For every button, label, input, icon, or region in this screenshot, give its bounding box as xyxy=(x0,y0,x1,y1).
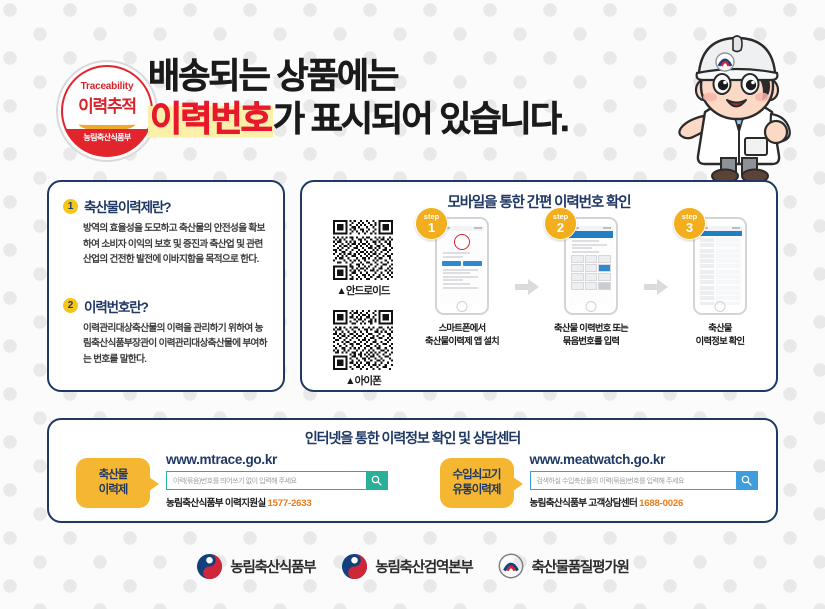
service-meatwatch: 수입쇠고기 유통이력제 www.meatwatch.go.kr 검색하실 수입축… xyxy=(413,452,777,509)
step-1-badge: step 1 xyxy=(415,207,448,240)
headline-line-2: 이력번호가 표시되어 있습니다. xyxy=(148,100,658,139)
internet-panel-title: 인터넷을 통한 이력정보 확인 및 상담센터 xyxy=(49,428,776,448)
step-2-screen xyxy=(569,226,613,305)
steps-row: step 1 스마트폰에서 축산물이력제 앱 설치 xyxy=(410,214,772,349)
service-mtrace: 축산물 이력제 www.mtrace.go.kr 이력(묶음)번호를 띄어쓰기 … xyxy=(49,452,413,509)
inspector-mascot-icon xyxy=(645,18,825,184)
footer-section: 농림축산식품부 농림축산검역본부 축산물품질평가원 xyxy=(0,536,825,596)
qr-code-column: ▲안드로이드 xyxy=(320,220,406,388)
service-mtrace-search-button[interactable] xyxy=(366,472,387,489)
step-3-badge: step 3 xyxy=(673,207,706,240)
service-mtrace-search-input[interactable]: 이력(묶음)번호를 띄어쓰기 없이 입력해 주세요 xyxy=(167,472,366,489)
iphone-qr-caption: ▲아이폰 xyxy=(320,373,406,388)
badge-arc: 농림축산식품부 xyxy=(63,129,151,155)
step-2-caption: 축산물 이력번호 또는 묶음번호를 입력 xyxy=(539,322,643,349)
header-section: Traceability 이력추적 농림축산식품부 배송되는 상품에는 이력번호… xyxy=(0,0,825,176)
step-1-caption-line-1: 스마트폰에서 xyxy=(439,323,486,333)
service-mtrace-tel-label: 농림축산식품부 이력지원실 xyxy=(166,498,265,509)
footer-logo-qia-label: 농림축산검역본부 xyxy=(375,556,472,577)
service-mtrace-bubble: 축산물 이력제 xyxy=(76,458,150,508)
step-2-badge: step 2 xyxy=(544,207,577,240)
step-2-badge-word: step xyxy=(553,213,568,221)
service-meatwatch-bubble: 수입쇠고기 유통이력제 xyxy=(440,458,514,508)
service-mtrace-tel-number: 1577-2633 xyxy=(267,498,311,509)
arrow-1-icon xyxy=(514,238,539,336)
mobile-panel: 모바일을 통한 간편 이력번호 확인 xyxy=(300,180,778,392)
info-item-1-body: 방역의 효율성을 도모하고 축산물의 안전성을 확보하여 소비자 이익의 보호 … xyxy=(83,221,267,268)
iphone-qr-code-icon[interactable] xyxy=(333,310,393,370)
qr-spacer xyxy=(320,298,406,310)
app-header-bar xyxy=(569,231,613,238)
step-1-badge-word: step xyxy=(424,213,439,221)
step-1: step 1 스마트폰에서 축산물이력제 앱 설치 xyxy=(410,214,514,349)
app-seal-icon xyxy=(454,234,470,250)
headline-block: 배송되는 상품에는 이력번호가 표시되어 있습니다. xyxy=(148,58,658,139)
internet-panel: 인터넷을 통한 이력정보 확인 및 상담센터 축산물 이력제 www.mtrac… xyxy=(47,418,778,523)
info-item-2-header: 2 이력번호란? xyxy=(63,296,267,316)
service-mtrace-contact: 농림축산식품부 이력지원실 1577-2633 xyxy=(166,495,413,509)
info-item-1-number: 1 xyxy=(63,199,78,214)
service-mtrace-url[interactable]: www.mtrace.go.kr xyxy=(166,452,413,467)
info-item-2-body: 이력관리대상축산물의 이력을 관리하기 위하여 농림축산식품부장관이 이력관리대… xyxy=(83,321,267,368)
step-3-caption-line-2: 이력정보 확인 xyxy=(696,336,745,346)
step-3: step 3 xyxy=(668,214,772,349)
info-item-1-header: 1 축산물이력제란? xyxy=(63,196,267,216)
trace-info-table xyxy=(700,238,740,305)
taegeuk-icon xyxy=(341,553,368,580)
footer-logo-ekape: 축산물품질평가원 xyxy=(498,553,628,579)
service-meatwatch-bubble-line-2: 유통이력제 xyxy=(453,483,501,498)
step-2-caption-line-2: 묶음번호를 입력 xyxy=(563,336,619,346)
step-2-caption-line-1: 축산물 이력번호 또는 xyxy=(554,323,628,333)
mobile-panel-title: 모바일을 통한 간편 이력번호 확인 xyxy=(302,191,776,212)
footer-logo-mafra-label: 농림축산식품부 xyxy=(230,556,315,577)
info-item-2-number: 2 xyxy=(63,298,78,313)
android-qr-caption: ▲안드로이드 xyxy=(320,283,406,298)
step-2: step 2 축산물 이력번 xyxy=(539,214,643,349)
step-1-caption: 스마트폰에서 축산물이력제 앱 설치 xyxy=(410,322,514,349)
service-meatwatch-contact: 농림축산식품부 고객상담센터 1688-0026 xyxy=(530,495,777,509)
app-header-bar xyxy=(698,231,742,236)
info-item-2-title: 이력번호란? xyxy=(84,296,148,316)
service-mtrace-bubble-line-2: 이력제 xyxy=(99,483,128,498)
step-1-caption-line-2: 축산물이력제 앱 설치 xyxy=(425,336,499,346)
service-meatwatch-search-input[interactable]: 검색하실 수입축산물의 이력(묶음)번호를 입력해 주세요 xyxy=(531,472,736,489)
service-meatwatch-search-button[interactable] xyxy=(736,472,757,489)
step-1-badge-number: 1 xyxy=(428,221,435,234)
step-1-screen xyxy=(440,226,484,305)
service-mtrace-body: www.mtrace.go.kr 이력(묶음)번호를 띄어쓰기 없이 입력해 주… xyxy=(166,452,413,509)
service-mtrace-search[interactable]: 이력(묶음)번호를 띄어쓰기 없이 입력해 주세요 xyxy=(166,471,388,490)
infographic-page: Traceability 이력추적 농림축산식품부 배송되는 상품에는 이력번호… xyxy=(0,0,825,609)
step-2-badge-number: 2 xyxy=(557,221,564,234)
footer-logo-ekape-label: 축산물품질평가원 xyxy=(531,556,628,577)
headline-rest-text: 가 표시되어 있습니다. xyxy=(273,100,568,139)
headline-highlight-text: 이력번호 xyxy=(148,100,273,139)
step-3-screen xyxy=(698,226,742,305)
service-meatwatch-bubble-line-1: 수입쇠고기 xyxy=(453,468,501,483)
ekape-mark-icon xyxy=(498,553,524,579)
service-meatwatch-body: www.meatwatch.go.kr 검색하실 수입축산물의 이력(묶음)번호… xyxy=(530,452,777,509)
services-row: 축산물 이력제 www.mtrace.go.kr 이력(묶음)번호를 띄어쓰기 … xyxy=(49,452,776,509)
service-meatwatch-tel-label: 농림축산식품부 고객상담센터 xyxy=(530,498,638,509)
badge-english-label: Traceability xyxy=(81,81,134,92)
info-item-1-title: 축산물이력제란? xyxy=(84,196,170,216)
numeric-keypad[interactable] xyxy=(571,255,611,291)
badge-ministry-label: 농림축산식품부 xyxy=(83,132,130,143)
info-panel: 1 축산물이력제란? 방역의 효율성을 도모하고 축산물의 안전성을 확보하여 … xyxy=(47,180,285,392)
step-3-badge-number: 3 xyxy=(686,221,693,234)
footer-logo-mafra: 농림축산식품부 xyxy=(196,553,315,580)
info-item-2: 2 이력번호란? 이력관리대상축산물의 이력을 관리하기 위하여 농림축산식품부… xyxy=(49,282,283,368)
step-3-caption-line-1: 축산물 xyxy=(708,323,731,333)
service-meatwatch-url[interactable]: www.meatwatch.go.kr xyxy=(530,452,777,467)
headline-line-1: 배송되는 상품에는 xyxy=(148,58,658,96)
badge-korean-label: 이력추적 xyxy=(78,92,136,117)
info-item-1: 1 축산물이력제란? 방역의 효율성을 도모하고 축산물의 안전성을 확보하여 … xyxy=(49,182,283,268)
screen-buttons xyxy=(442,261,482,266)
arrow-2-icon xyxy=(643,238,668,336)
badge-inner: Traceability 이력추적 농림축산식품부 xyxy=(63,67,151,155)
taegeuk-icon xyxy=(196,553,223,580)
traceability-badge: Traceability 이력추적 농림축산식품부 xyxy=(58,62,156,160)
step-3-caption: 축산물 이력정보 확인 xyxy=(668,322,772,349)
footer-logo-qia: 농림축산검역본부 xyxy=(341,553,472,580)
service-mtrace-bubble-line-1: 축산물 xyxy=(99,468,128,483)
service-meatwatch-search[interactable]: 검색하실 수입축산물의 이력(묶음)번호를 입력해 주세요 xyxy=(530,471,758,490)
service-meatwatch-tel-number: 1688-0026 xyxy=(639,498,683,509)
step-3-badge-word: step xyxy=(682,213,697,221)
android-qr-code-icon[interactable] xyxy=(333,220,393,280)
